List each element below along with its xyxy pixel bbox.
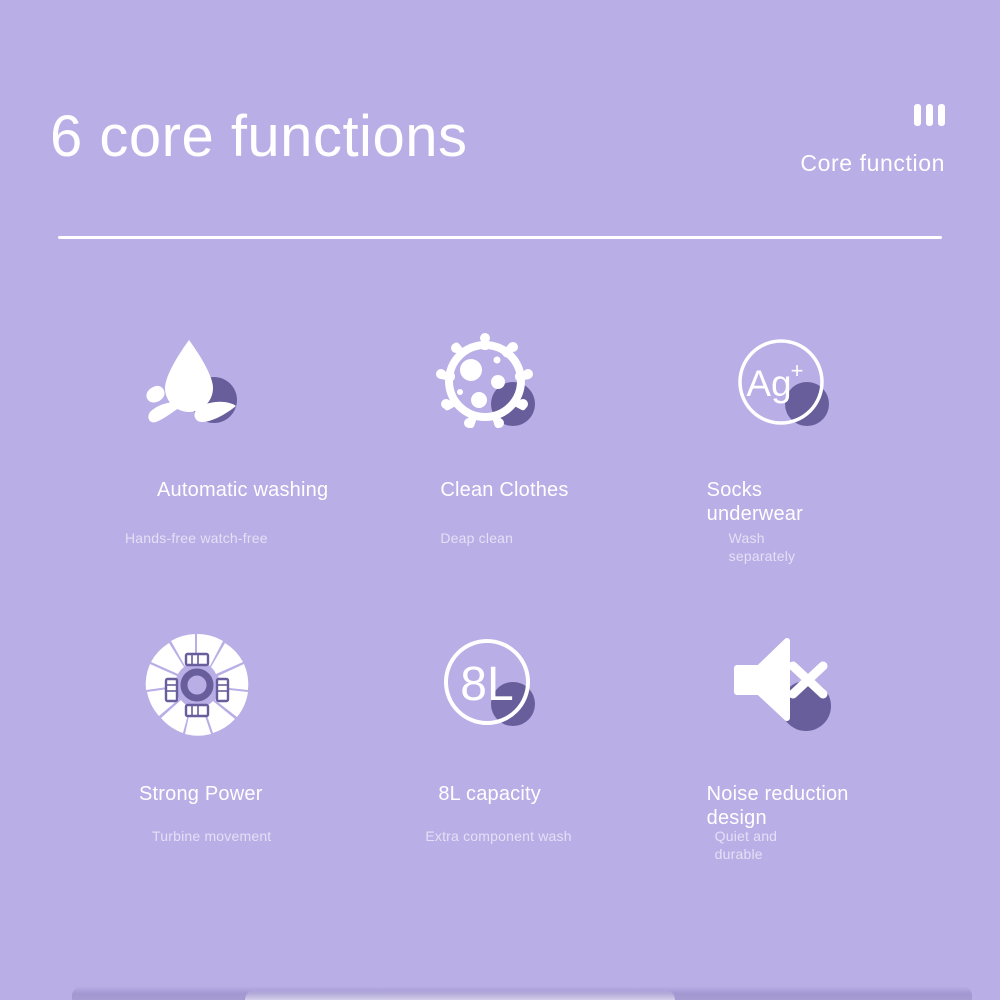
germ-virus-glyph — [435, 330, 545, 440]
feature-subtitle: Hands-free watch-free — [125, 530, 280, 548]
turbine-impeller-glyph — [142, 630, 252, 740]
promo-slide: 6 core functions Core function Automatic… — [0, 0, 1000, 1000]
water-droplet-splash-icon — [142, 330, 252, 440]
feature-item-strong-power: Strong Power Turbine movement — [60, 630, 353, 930]
feature-title: Noise reduction design — [707, 782, 857, 831]
feature-subtitle: Deap clean — [440, 530, 595, 548]
muted-speaker-glyph — [729, 630, 839, 740]
ag-label: Ag — [746, 363, 791, 404]
feature-item-clean-clothes: Clean Clothes Deap clean — [353, 330, 646, 630]
feature-subtitle: Extra component wash — [425, 828, 575, 846]
feature-title: Strong Power — [139, 782, 314, 806]
feature-item-socks-underwear: Ag + Socks underwear Wash separately — [647, 330, 940, 630]
three-bars-icon — [914, 104, 945, 126]
feature-subtitle: Wash separately — [729, 530, 834, 565]
feature-title: Automatic washing — [157, 478, 332, 502]
feature-title: 8L capacity — [438, 782, 613, 806]
feature-title: Socks underwear — [707, 478, 857, 527]
capacity-label: 8L — [461, 658, 514, 711]
bar-2 — [926, 104, 933, 126]
germ-virus-icon — [435, 330, 545, 440]
page-title: 6 core functions — [50, 105, 467, 169]
bar-3 — [938, 104, 945, 126]
feature-item-noise-reduction: Noise reduction design Quiet and durable — [647, 630, 940, 930]
ag-plus-glyph: Ag + — [729, 330, 839, 440]
product-image-highlight — [245, 990, 675, 1000]
header-divider — [58, 236, 942, 239]
feature-grid: Automatic washing Hands-free watch-free — [60, 330, 940, 930]
feature-subtitle: Turbine movement — [152, 828, 307, 846]
feature-item-8l-capacity: 8L 8L capacity Extra component wash — [353, 630, 646, 930]
capacity-8l-glyph: 8L — [435, 630, 545, 740]
ag-superscript: + — [790, 358, 803, 383]
feature-subtitle: Quiet and durable — [715, 828, 815, 863]
silver-ion-ag-plus-icon: Ag + — [729, 330, 839, 440]
eyebrow-label: Core function — [800, 150, 945, 177]
turbine-impeller-icon — [142, 630, 252, 740]
muted-speaker-icon — [729, 630, 839, 740]
water-droplet-splash-glyph — [142, 330, 252, 440]
feature-title: Clean Clothes — [440, 478, 615, 502]
capacity-8l-icon: 8L — [435, 630, 545, 740]
bar-1 — [914, 104, 921, 126]
feature-item-automatic-washing: Automatic washing Hands-free watch-free — [60, 330, 353, 630]
